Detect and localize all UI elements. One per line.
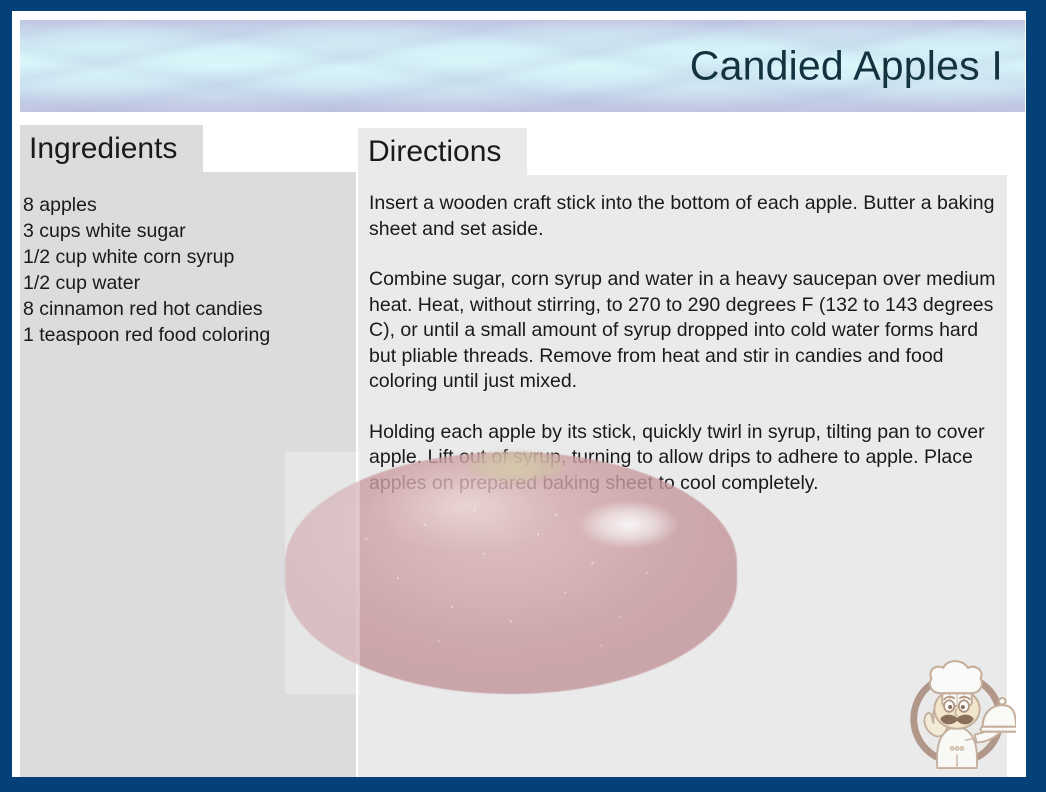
ingredients-list: 8 apples 3 cups white sugar 1/2 cup whit… <box>23 192 348 348</box>
list-item: 1/2 cup white corn syrup <box>23 244 348 270</box>
ingredients-heading: Ingredients <box>29 132 177 166</box>
title-banner: Candied Apples I <box>20 20 1025 112</box>
page-title: Candied Apples I <box>690 43 1003 90</box>
chef-with-cloche-logo <box>898 652 1016 774</box>
list-item: 8 apples <box>23 192 348 218</box>
slide-border-bottom <box>0 777 1046 792</box>
ingredients-tab: Ingredients <box>20 125 203 172</box>
list-item: 3 cups white sugar <box>23 218 348 244</box>
list-item: 8 cinnamon red hot candies <box>23 296 348 322</box>
directions-paragraph: Insert a wooden craft stick into the bot… <box>369 191 997 242</box>
list-item: 1 teaspoon red food coloring <box>23 322 348 348</box>
directions-paragraph: Holding each apple by its stick, quickly… <box>369 420 997 497</box>
directions-paragraph: Combine sugar, corn syrup and water in a… <box>369 267 997 395</box>
slide-border-right <box>1026 0 1046 792</box>
list-item: 1/2 cup water <box>23 270 348 296</box>
directions-body: Insert a wooden craft stick into the bot… <box>369 191 997 496</box>
slide-border-top <box>0 0 1046 11</box>
slide-border-left <box>0 0 12 792</box>
directions-tab: Directions <box>358 128 527 175</box>
ingredients-panel: 8 apples 3 cups white sugar 1/2 cup whit… <box>20 172 356 777</box>
recipe-slide: Candied Apples I Ingredients 8 apples 3 … <box>0 0 1046 792</box>
directions-heading: Directions <box>368 135 501 169</box>
